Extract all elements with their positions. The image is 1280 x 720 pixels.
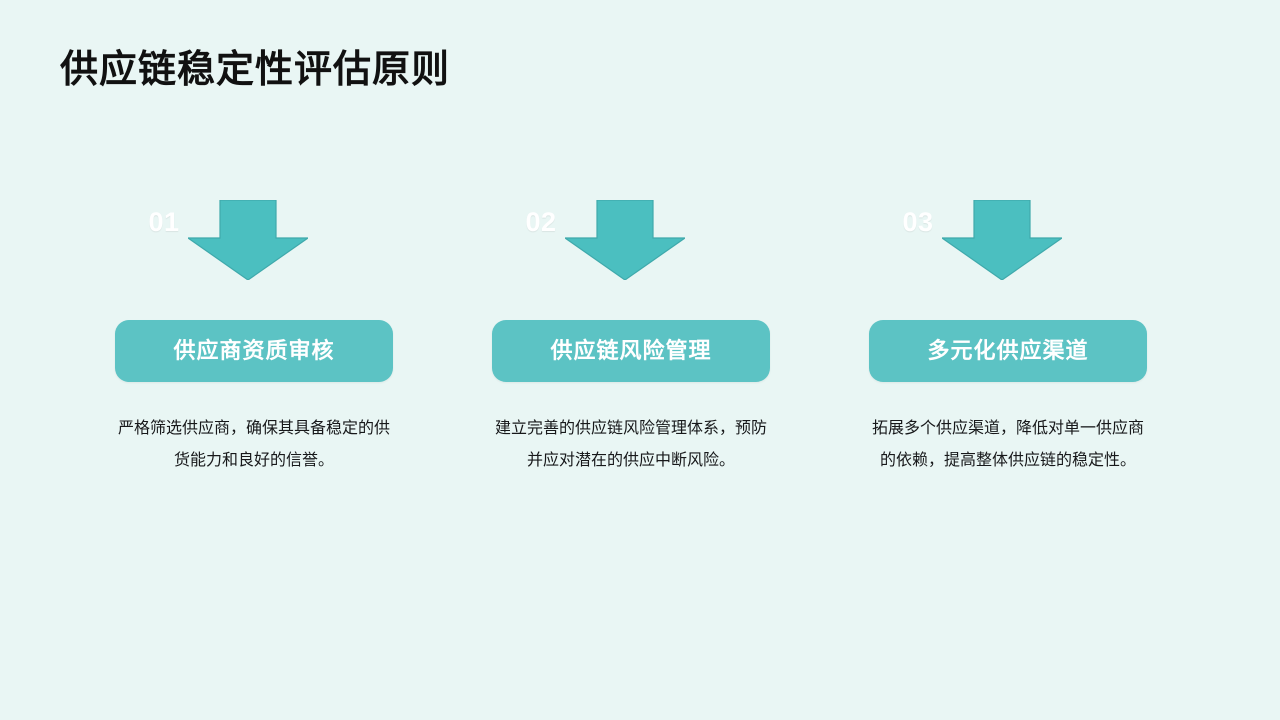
step-arrow-1: 01 [104, 200, 404, 284]
step-arrow-2: 02 [481, 200, 781, 284]
principle-body-1: 严格筛选供应商，确保其具备稳定的供货能力和良好的信誉。 [114, 412, 394, 476]
step-number-3: 03 [858, 206, 978, 238]
principle-heading-pill-3: 多元化供应渠道 [869, 320, 1147, 382]
principle-heading-label-3: 多元化供应渠道 [927, 340, 1088, 362]
step-number-2: 02 [481, 206, 601, 238]
principle-column-2: 02 供应链风险管理 建立完善的供应链风险管理体系，预防并应对潜在的供应中断风险… [481, 196, 781, 526]
principle-heading-label-1: 供应商资质审核 [173, 340, 334, 362]
principle-heading-pill-1: 供应商资质审核 [115, 320, 393, 382]
principle-column-1: 01 供应商资质审核 严格筛选供应商，确保其具备稳定的供货能力和良好的信誉。 [104, 196, 404, 526]
slide-canvas: 供应链稳定性评估原则 01 供应商资质审核 严格筛选供应商，确保其具备稳定的供货… [0, 0, 1280, 720]
principle-heading-pill-2: 供应链风险管理 [492, 320, 770, 382]
principle-column-3: 03 多元化供应渠道 拓展多个供应渠道，降低对单一供应商的依赖，提高整体供应链的… [858, 196, 1158, 526]
principle-body-3: 拓展多个供应渠道，降低对单一供应商的依赖，提高整体供应链的稳定性。 [868, 412, 1148, 476]
page-title: 供应链稳定性评估原则 [60, 48, 450, 94]
principle-heading-label-2: 供应链风险管理 [550, 340, 711, 362]
principles-columns: 01 供应商资质审核 严格筛选供应商，确保其具备稳定的供货能力和良好的信誉。 0… [0, 196, 1280, 526]
step-number-1: 01 [104, 206, 224, 238]
step-arrow-3: 03 [858, 200, 1158, 284]
principle-body-2: 建立完善的供应链风险管理体系，预防并应对潜在的供应中断风险。 [491, 412, 771, 476]
